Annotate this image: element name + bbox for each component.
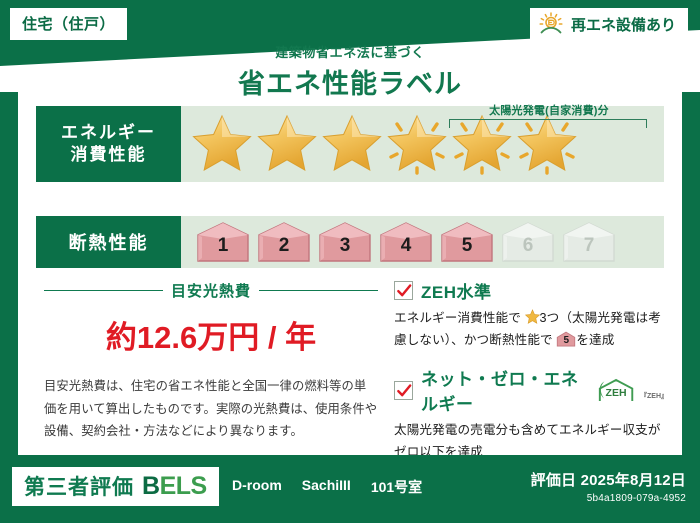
solar-annotation-label: 太陽光発電(自家消費)分 [449,102,649,118]
renewable-equipment-label: 再エネ設備あり [571,14,676,35]
insulation-performance-row: 断熱性能 1234567 [36,216,664,268]
building-type-chip: 住宅（住戸） [10,8,127,40]
insulation-performance-label-cell: 断熱性能 [36,216,181,268]
insulation-level-4: 4 [378,221,434,263]
utility-cost-note: 目安光熱費は、住宅の省エネ性能と全国一律の燃料等の単価を用いて算出したものです。… [44,375,378,443]
evaluation-info: 評価日 2025年8月12日 5b4a1809-079a-4952 [531,469,686,504]
label-body-sheet: エネルギー 消費性能 太陽光発電(自家消費)分 断熱性能 1234567 [18,88,682,455]
label-footer: 第三者評価 BELS D-room SachiIII 101号室 評価日 202… [0,455,700,523]
criterion-net-zero-energy-head: ネット・ゼロ・エネルギー ZEH 『ZEH』 [394,365,668,415]
zeh-standard-body: エネルギー消費性能で 3つ（太陽光発電は考慮しない）、かつ断熱性能で 5 を達成 [394,308,668,351]
star-2 [256,113,318,175]
inline-star-icon [525,309,540,324]
zeh-logo-caption: 『ZEH』 [640,391,668,403]
zeh-standard-body-part1: エネルギー消費性能で [394,311,521,325]
insulation-level-value: 3 [317,221,373,263]
bels-certification-chip: 第三者評価 BELS [12,467,219,506]
criteria-column: ZEH水準 エネルギー消費性能で 3つ（太陽光発電は考慮しない）、かつ断熱性能で [384,278,668,447]
insulation-level-value: 2 [256,221,312,263]
label-subtitle: 建築物省エネ法に基づく [0,42,700,61]
zeh-house-logo-icon: ZEH [596,378,638,403]
inline-badge-value: 5 [556,331,576,347]
rule-right [259,290,378,292]
insulation-level-value: 1 [195,221,251,263]
evaluation-date: 評価日 2025年8月12日 [531,469,686,490]
criterion-zeh-standard: ZEH水準 エネルギー消費性能で 3つ（太陽光発電は考慮しない）、かつ断熱性能で [394,278,668,351]
criterion-zeh-standard-head: ZEH水準 [394,278,668,303]
energy-performance-label-cell: エネルギー 消費性能 [36,106,181,182]
criterion-net-zero-energy: ネット・ゼロ・エネルギー ZEH 『ZEH』 [394,365,668,463]
net-zero-title: ネット・ゼロ・エネルギー [421,365,586,415]
star-4 [386,113,448,175]
bels-logo-b: B [142,472,160,500]
insulation-level-5: 5 [439,221,495,263]
insulation-level-2: 2 [256,221,312,263]
inline-insulation-badge: 5 [556,331,576,347]
insulation-level-6: 6 [500,221,556,263]
label-title: 省エネ性能ラベル [0,62,700,101]
label-title-block: 建築物省エネ法に基づく 省エネ性能ラベル [0,42,700,101]
property-identification: D-room SachiIII 101号室 [232,477,422,497]
svg-text:ZEH: ZEH [606,387,627,399]
bels-japanese-label: 第三者評価 [24,471,134,501]
utility-cost-value: 約12.6万円 / 年 [44,312,378,357]
property-brand: D-room [232,477,282,497]
property-name: SachiIII [302,477,351,497]
zeh-standard-checkbox[interactable] [394,281,413,300]
insulation-level-value: 6 [500,221,556,263]
zeh-standard-title: ZEH水準 [421,278,492,303]
utility-cost-column: 目安光熱費 約12.6万円 / 年 目安光熱費は、住宅の省エネ性能と全国一律の燃… [36,278,384,447]
utility-cost-heading-label: 目安光熱費 [171,280,251,301]
property-unit: 101号室 [371,477,422,497]
insulation-level-value: 5 [439,221,495,263]
detail-columns: 目安光熱費 約12.6万円 / 年 目安光熱費は、住宅の省エネ性能と全国一律の燃… [36,278,668,447]
energy-label-line2: 消費性能 [71,144,147,166]
energy-performance-label: 住宅（住戸） 再エネ設備あり 建築物省エネ法に基づく [0,0,700,523]
energy-performance-row: エネルギー 消費性能 太陽光発電(自家消費)分 [36,106,664,182]
bels-logo-els: ELS [160,472,207,500]
insulation-level-1: 1 [195,221,251,263]
insulation-label: 断熱性能 [69,229,149,255]
evaluation-id: 5b4a1809-079a-4952 [531,493,686,504]
energy-label-line1: エネルギー [61,122,156,144]
bels-logo-text: BELS [142,472,207,501]
insulation-level-3: 3 [317,221,373,263]
utility-cost-heading: 目安光熱費 [44,280,378,301]
sun-renewable-icon [538,12,564,36]
energy-stars-panel: 太陽光発電(自家消費)分 [181,106,664,182]
insulation-level-value: 4 [378,221,434,263]
insulation-level-7: 7 [561,221,617,263]
insulation-level-value: 7 [561,221,617,263]
insulation-level-scale: 1234567 [181,216,664,268]
building-type-label: 住宅（住戸） [22,16,115,33]
net-zero-checkbox[interactable] [394,381,413,400]
zeh-standard-body-part2: を達成 [576,333,614,347]
zeh-logo: ZEH 『ZEH』 [596,378,668,403]
star-3 [321,113,383,175]
rule-left [44,290,163,292]
insulation-badges-panel: 1234567 [181,216,664,268]
star-1 [191,113,253,175]
solar-annotation-bracket [449,119,647,128]
